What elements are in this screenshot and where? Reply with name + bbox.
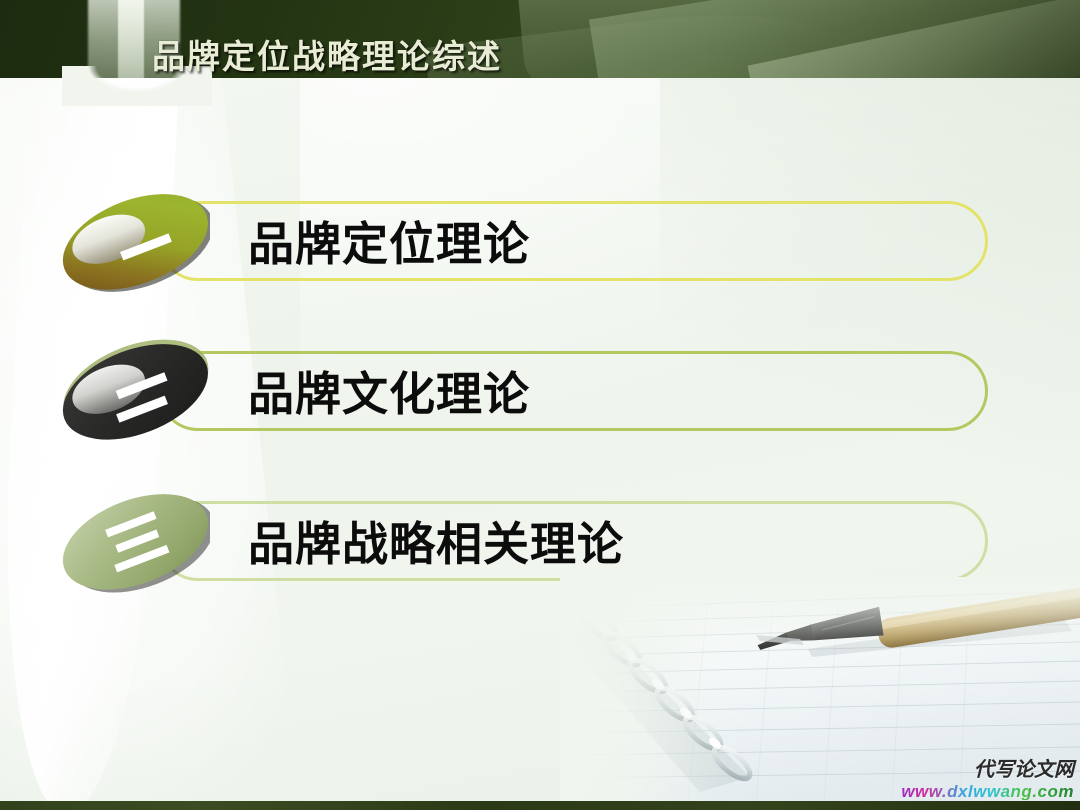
title-wave-decoration [511,0,1080,78]
title-wave-decoration [589,0,1080,78]
agenda-item-2[interactable]: 品牌文化理论 [60,335,990,445]
title-light-streak-inner [118,0,144,78]
watermark-site-name: 代写论文网 [901,760,1074,780]
agenda-item-2-label: 品牌文化理论 [248,351,530,431]
slide-bottom-bar [0,801,1080,810]
agenda-item-1[interactable]: 品牌定位理论 [60,185,990,295]
title-wave-decoration [748,0,1080,78]
agenda-item-1-label: 品牌定位理论 [248,201,530,281]
slide-title-bar: 品牌定位战略理论综述 [0,0,1080,78]
agenda-item-3-label: 品牌战略相关理论 [248,501,624,581]
agenda-item-1-badge [60,185,210,295]
agenda-item-2-badge [60,335,210,445]
agenda-item-3-badge [60,485,210,595]
presentation-slide: 品牌定位战略理论综述 [0,0,1080,810]
watermark: 代写论文网 www.dxlwwang.com [901,760,1074,800]
watermark-url: www.dxlwwang.com [901,783,1074,800]
slide-title: 品牌定位战略理论综述 [152,30,502,78]
